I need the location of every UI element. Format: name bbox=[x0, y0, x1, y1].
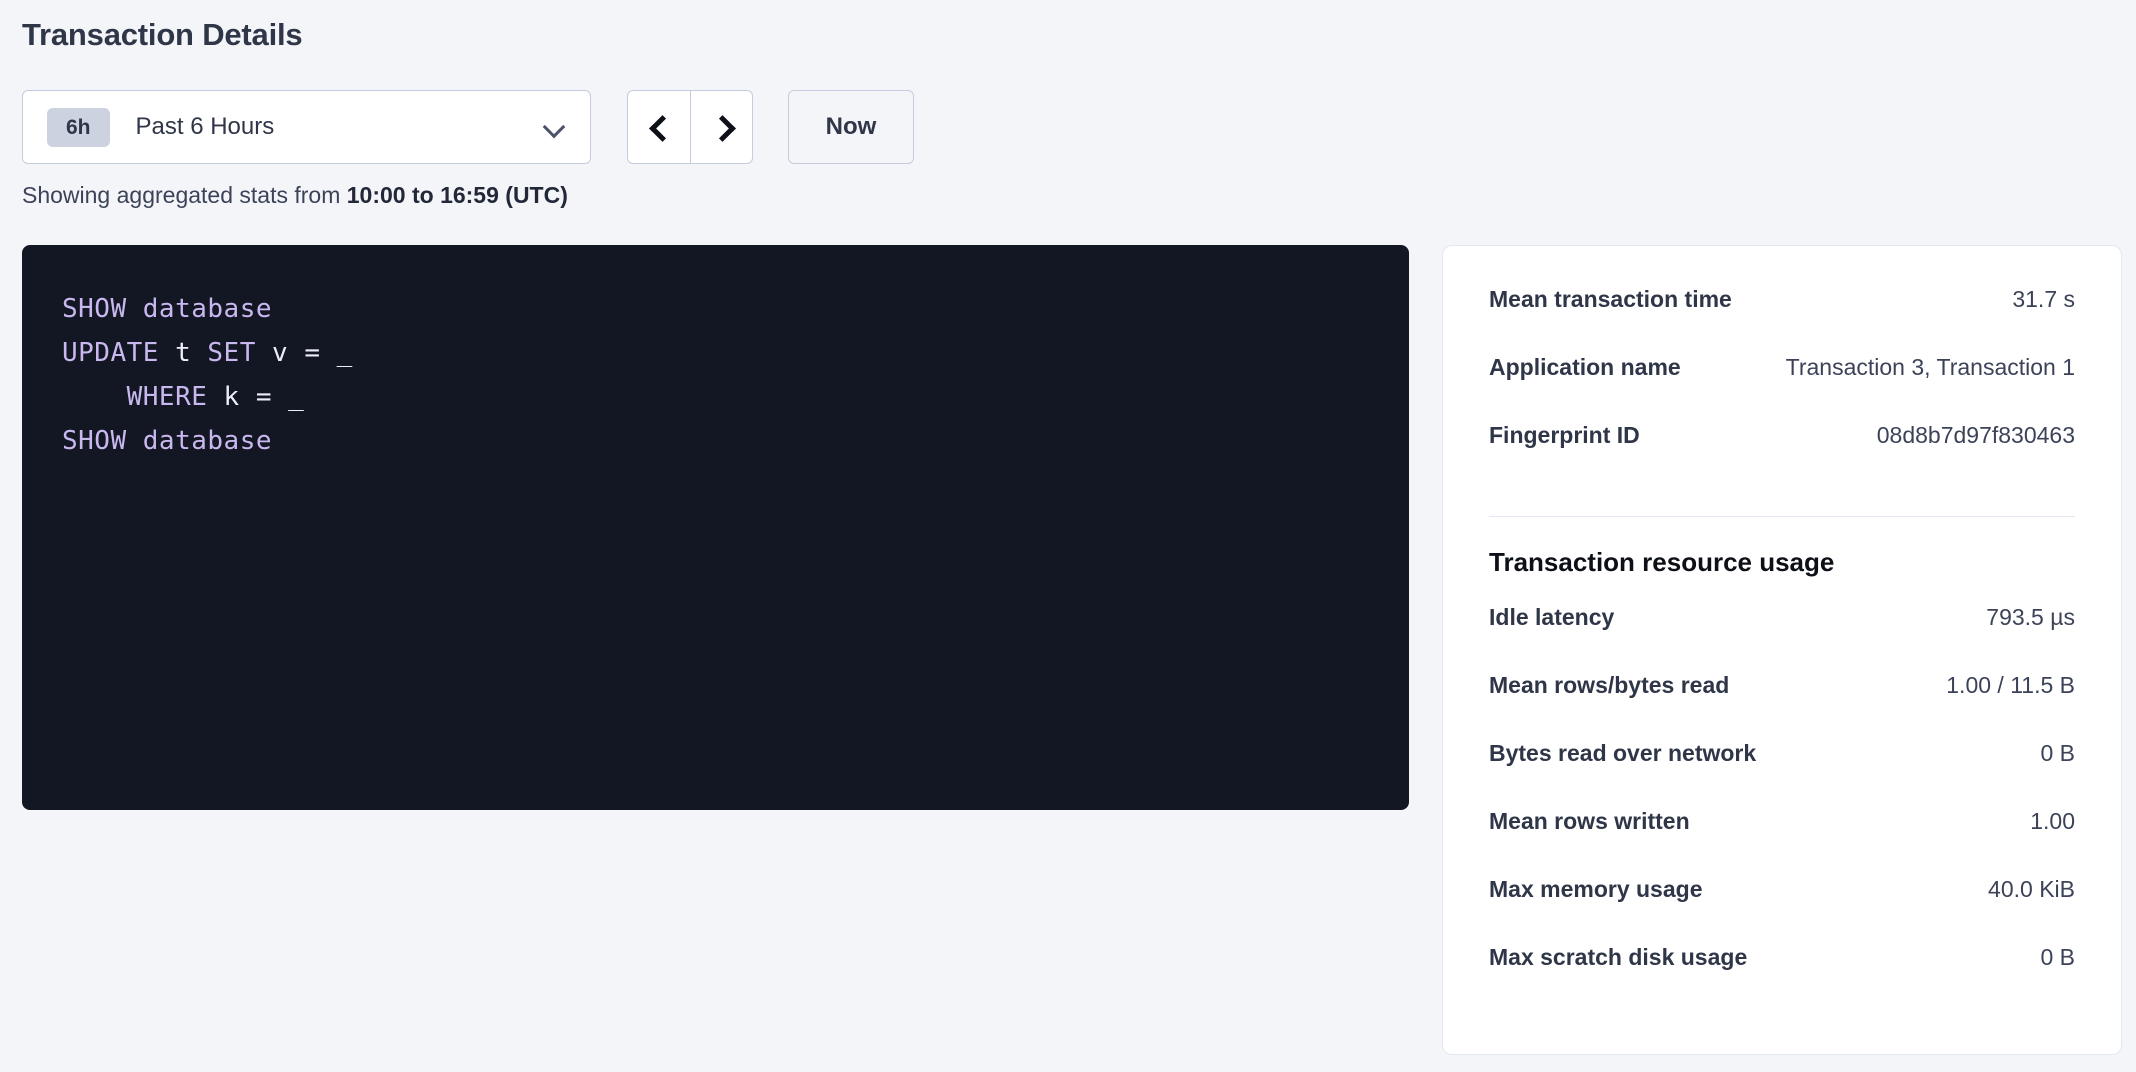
stat-row: Fingerprint ID08d8b7d97f830463 bbox=[1489, 422, 2075, 490]
sql-token bbox=[127, 294, 143, 324]
chevron-right-icon bbox=[712, 117, 732, 137]
resource-stats-list: Idle latency793.5 µsMean rows/bytes read… bbox=[1489, 604, 2075, 1012]
stat-row: Idle latency793.5 µs bbox=[1489, 604, 2075, 672]
resource-usage-title: Transaction resource usage bbox=[1489, 547, 2075, 578]
stat-row: Mean rows/bytes read1.00 / 11.5 B bbox=[1489, 672, 2075, 740]
stat-value: 1.00 bbox=[2030, 808, 2075, 835]
transaction-stats-card: Mean transaction time31.7 sApplication n… bbox=[1442, 245, 2122, 1055]
stat-row: Mean rows written1.00 bbox=[1489, 808, 2075, 876]
stat-value: 0 B bbox=[2040, 944, 2075, 971]
sql-keyword: WHERE bbox=[127, 382, 208, 412]
now-button[interactable]: Now bbox=[788, 90, 914, 164]
aggregation-range-value: 10:00 to 16:59 (UTC) bbox=[347, 182, 568, 208]
stat-row: Application nameTransaction 3, Transacti… bbox=[1489, 354, 2075, 422]
stat-row: Max memory usage40.0 KiB bbox=[1489, 876, 2075, 944]
chevron-down-icon bbox=[544, 117, 564, 137]
aggregation-range-text: Showing aggregated stats from 10:00 to 1… bbox=[22, 182, 568, 209]
time-range-badge: 6h bbox=[47, 108, 110, 147]
stat-label: Fingerprint ID bbox=[1489, 422, 1640, 449]
stat-value: 793.5 µs bbox=[1986, 604, 2075, 631]
stat-row: Mean transaction time31.7 s bbox=[1489, 286, 2075, 354]
stat-row: Bytes read over network0 B bbox=[1489, 740, 2075, 808]
stat-label: Idle latency bbox=[1489, 604, 1614, 631]
sql-keyword: SHOW bbox=[62, 294, 127, 324]
stat-label: Max memory usage bbox=[1489, 876, 1702, 903]
stat-value: 31.7 s bbox=[2012, 286, 2075, 313]
stat-row: Max scratch disk usage0 B bbox=[1489, 944, 2075, 1012]
section-divider bbox=[1489, 516, 2075, 517]
sql-keyword: UPDATE bbox=[62, 338, 159, 368]
stat-label: Mean rows/bytes read bbox=[1489, 672, 1729, 699]
sql-statement-block[interactable]: SHOW databaseUPDATE t SET v = _ WHERE k … bbox=[22, 245, 1409, 810]
sql-keyword: SHOW bbox=[62, 426, 127, 456]
stat-label: Application name bbox=[1489, 354, 1681, 381]
sql-keyword: SET bbox=[207, 338, 255, 368]
chevron-left-icon bbox=[649, 117, 669, 137]
sql-keyword: database bbox=[143, 294, 272, 324]
stat-value: 1.00 / 11.5 B bbox=[1946, 672, 2075, 699]
stat-label: Mean rows written bbox=[1489, 808, 1690, 835]
sql-keyword: database bbox=[143, 426, 272, 456]
stat-value: 40.0 KiB bbox=[1988, 876, 2075, 903]
overview-stats-list: Mean transaction time31.7 sApplication n… bbox=[1489, 286, 2075, 490]
transaction-details-page: Transaction Details 6h Past 6 Hours Now … bbox=[0, 0, 2136, 1072]
sql-line: UPDATE t SET v = _ bbox=[62, 331, 1409, 375]
page-title: Transaction Details bbox=[22, 17, 302, 53]
stat-value: 08d8b7d97f830463 bbox=[1877, 422, 2075, 449]
sql-token bbox=[62, 382, 127, 412]
stat-label: Mean transaction time bbox=[1489, 286, 1732, 313]
sql-token bbox=[127, 426, 143, 456]
sql-line: SHOW database bbox=[62, 419, 1409, 463]
stat-value: Transaction 3, Transaction 1 bbox=[1786, 354, 2075, 381]
sql-token: k = _ bbox=[207, 382, 304, 412]
aggregation-range-prefix: Showing aggregated stats from bbox=[22, 182, 347, 208]
next-period-button[interactable] bbox=[690, 90, 753, 164]
stat-label: Bytes read over network bbox=[1489, 740, 1756, 767]
time-range-label: Past 6 Hours bbox=[136, 113, 544, 141]
sql-token: v = _ bbox=[256, 338, 353, 368]
previous-period-button[interactable] bbox=[627, 90, 690, 164]
time-range-select[interactable]: 6h Past 6 Hours bbox=[22, 90, 591, 164]
time-range-controls: 6h Past 6 Hours Now bbox=[22, 90, 914, 164]
sql-token: t bbox=[159, 338, 207, 368]
time-nav-group bbox=[627, 90, 753, 164]
stat-label: Max scratch disk usage bbox=[1489, 944, 1747, 971]
sql-line: WHERE k = _ bbox=[62, 375, 1409, 419]
stat-value: 0 B bbox=[2040, 740, 2075, 767]
sql-line: SHOW database bbox=[62, 287, 1409, 331]
